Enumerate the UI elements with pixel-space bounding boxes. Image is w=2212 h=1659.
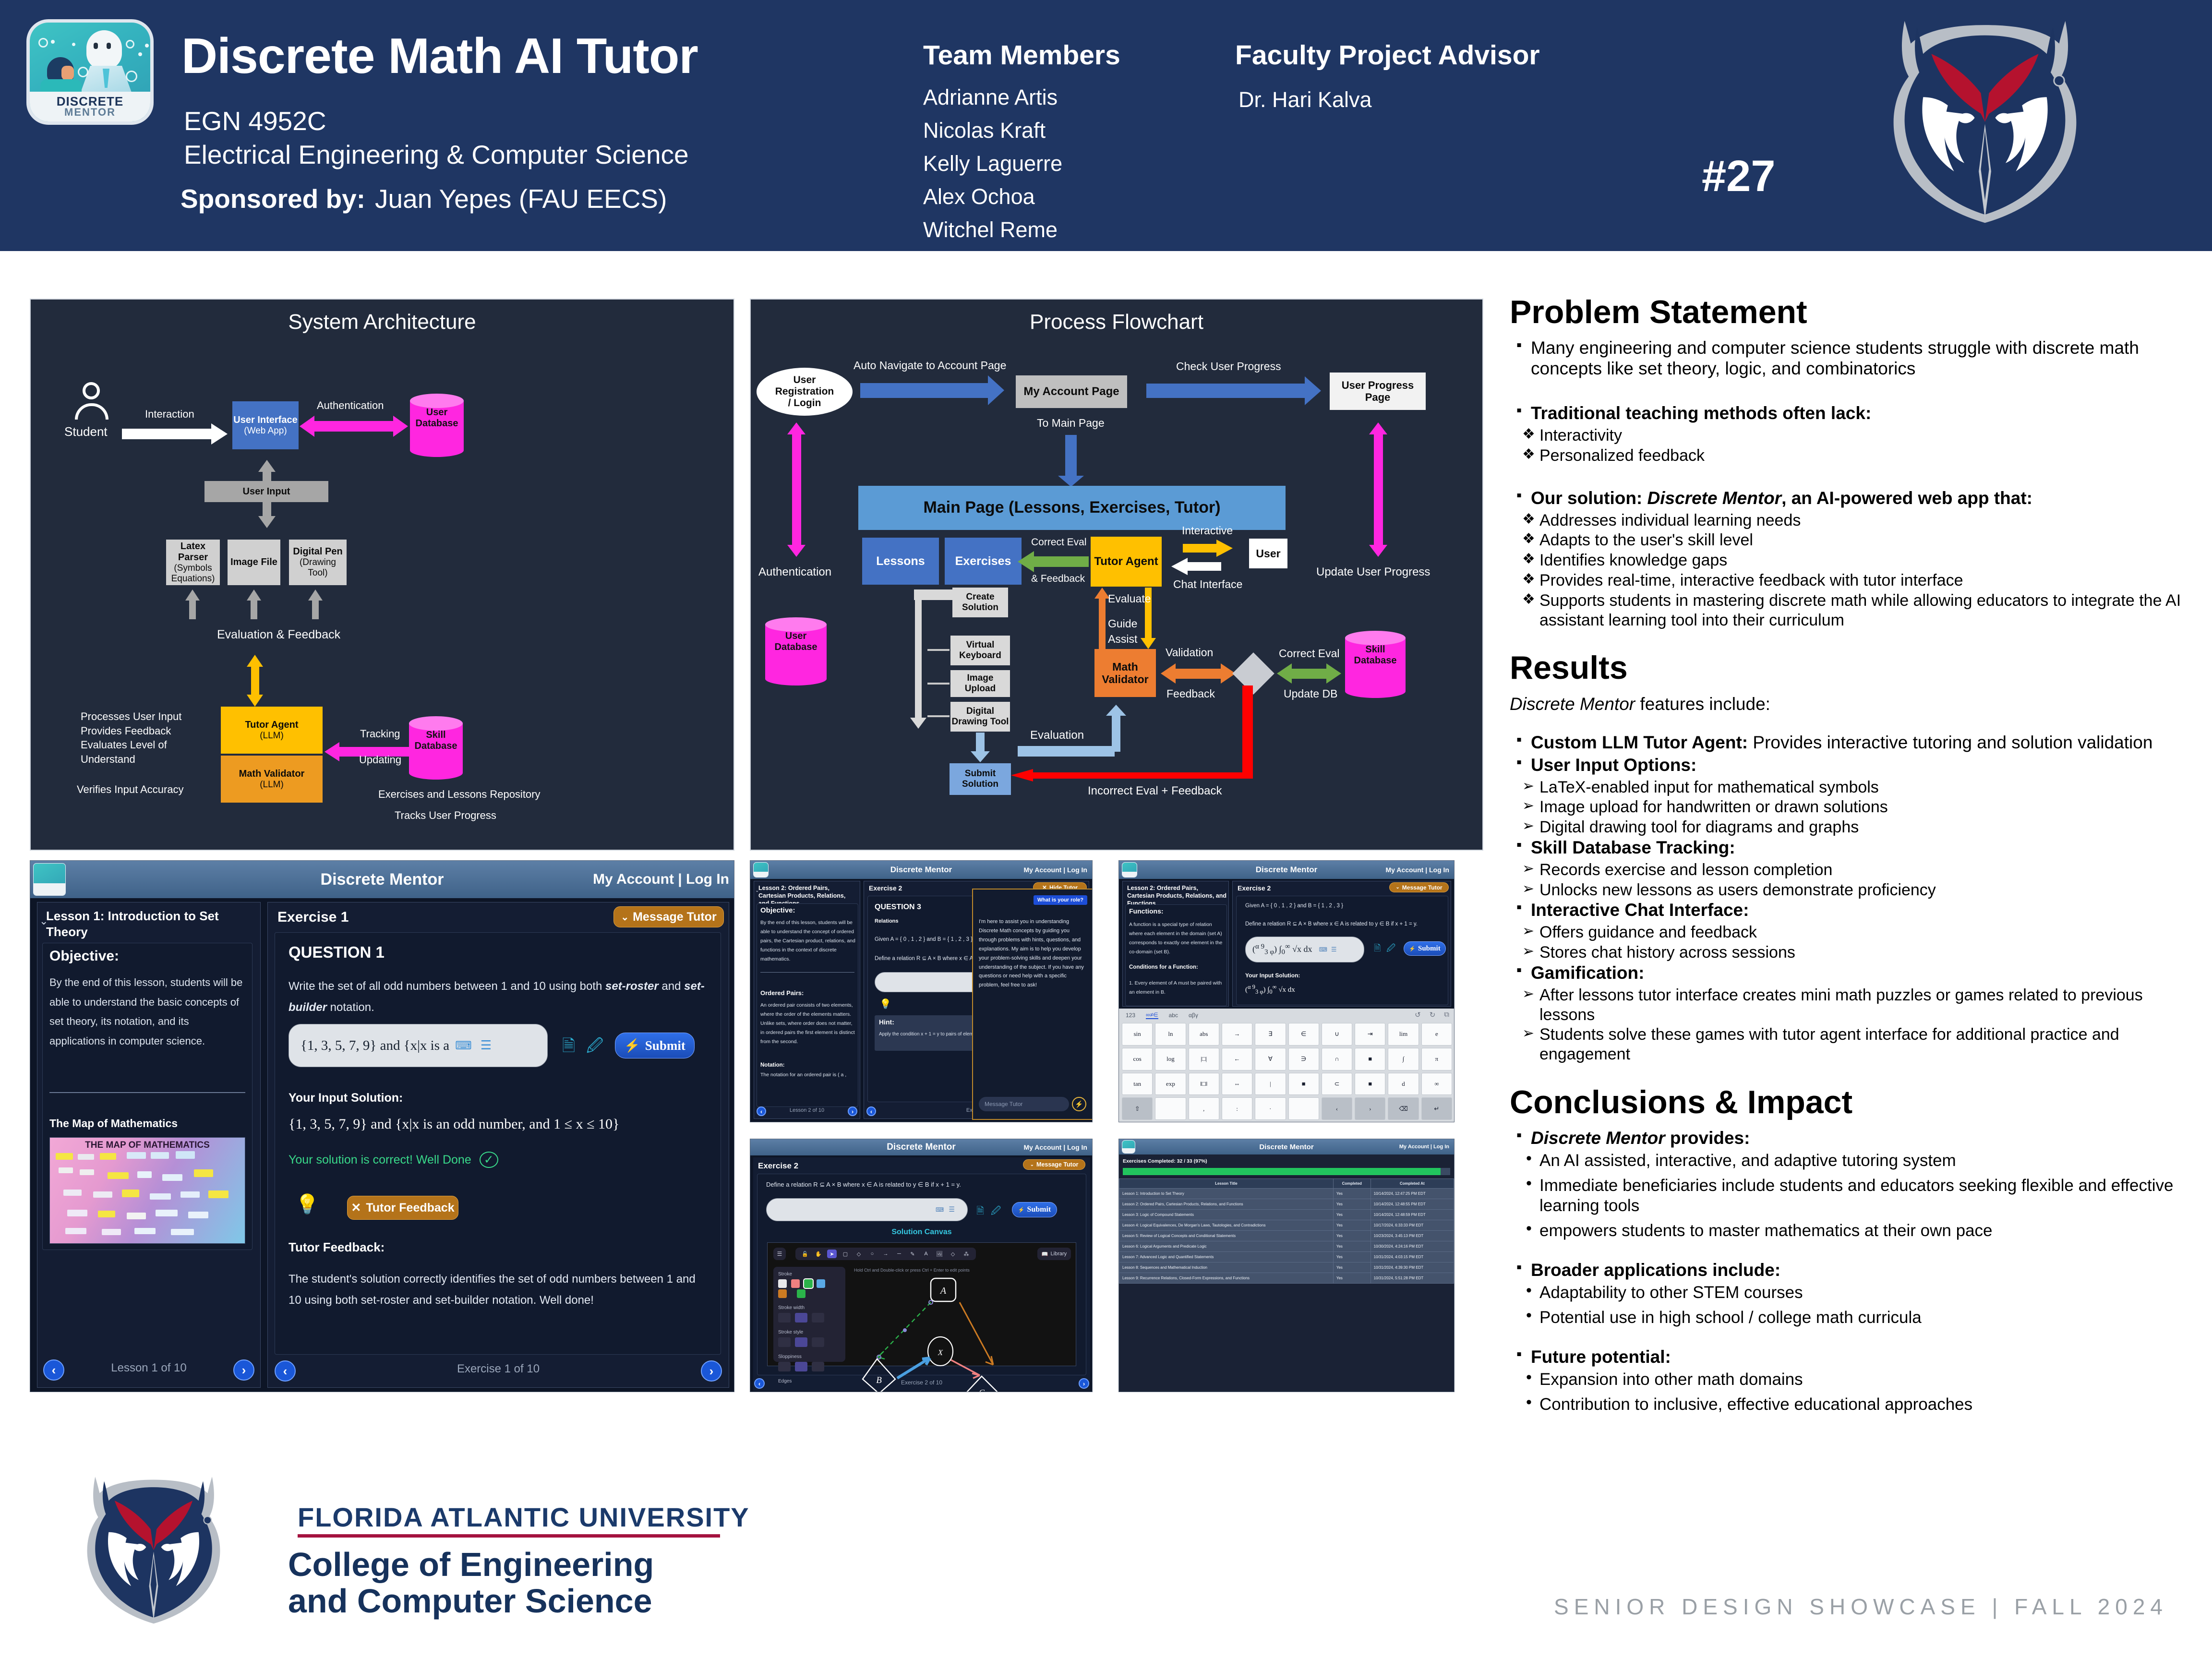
key-abs[interactable]: abs <box>1189 1023 1219 1046</box>
hint-text: Apply the condition x + 1 = y to pairs o… <box>879 1032 974 1037</box>
define-line: Define a relation R ⊆ A × B where x ∈ A … <box>766 1181 961 1189</box>
canvas-hint: Hold Ctrl and Double-click or press Ctrl… <box>854 1268 970 1273</box>
key-∀[interactable]: ∀ <box>1255 1048 1286 1070</box>
key-cos[interactable]: cos <box>1122 1048 1153 1070</box>
stroke-style-options[interactable] <box>778 1337 841 1348</box>
submit-button[interactable]: ⚡ Submit <box>1404 941 1446 956</box>
tab-123[interactable]: 123 <box>1126 1012 1135 1019</box>
group-product-name: Discrete Mentor <box>1531 1128 1665 1148</box>
app-screenshot-progress-table[interactable]: Discrete Mentor My Account | Log In Exer… <box>1118 1139 1455 1392</box>
style-solid[interactable] <box>778 1337 791 1347</box>
diamond-icon[interactable]: ◇ <box>854 1250 864 1258</box>
validation-label: Validation <box>1166 645 1213 660</box>
authentication-arrow-icon <box>787 422 805 557</box>
list-item: Records exercise and lesson completion <box>1520 860 2191 880</box>
key-,[interactable]: , <box>1189 1097 1219 1120</box>
message-tutor-button[interactable]: ⌄ Message Tutor <box>1023 1159 1085 1170</box>
submit-solution-label: SubmitSolution <box>962 769 998 790</box>
given-line: Given A = { 0 , 1 , 2 } and B = { 1 , 2 … <box>875 937 973 942</box>
key-π[interactable]: π <box>1421 1048 1452 1070</box>
table-row: Lesson 7: Advanced Logic and Quantified … <box>1119 1252 1454 1262</box>
draw-tool-icon[interactable]: 🖉 <box>586 1034 603 1062</box>
swatch-green-selected[interactable] <box>804 1279 813 1288</box>
app-topbar: Discrete Mentor My Account | Log In <box>1119 861 1454 879</box>
tutor-feedback-text: The student's solution correctly identif… <box>289 1269 711 1311</box>
key-⊂[interactable]: ⊂ <box>1322 1073 1352 1095</box>
table-cell: Yes <box>1333 1210 1370 1220</box>
sloppiness-2[interactable] <box>795 1362 807 1371</box>
lightbulb-icon[interactable]: 💡 <box>879 998 891 1010</box>
stroke-width-label: Stroke width <box>778 1305 841 1310</box>
right-content-column: Problem Statement Many engineering and c… <box>1510 295 2191 1419</box>
table-cell: Yes <box>1333 1252 1370 1262</box>
key-↵[interactable]: ↵ <box>1421 1097 1452 1120</box>
solution-suffix: , an AI-powered web app that: <box>1781 488 2032 508</box>
user-database-label: UserDatabase <box>765 631 827 653</box>
authentication-arrow-icon <box>300 416 408 437</box>
sloppiness-3[interactable] <box>812 1362 824 1371</box>
objective-heading: Objective: <box>760 906 795 914</box>
objective-text: By the end of this lesson, students will… <box>49 973 243 1051</box>
objective-card: Objective: By the end of this lesson, st… <box>42 943 252 1250</box>
stroke-width-options[interactable] <box>778 1313 841 1324</box>
key-|[interactable]: | <box>1255 1073 1286 1095</box>
list-item: Offers guidance and feedback <box>1520 923 2191 942</box>
showcase-label: SENIOR DESIGN SHOWCASE | FALL 2024 <box>1554 1594 2168 1620</box>
latex-parser-sub: (SymbolsEquations) <box>171 563 215 584</box>
image-icon[interactable]: 🖼 <box>935 1250 944 1258</box>
create-solution-node: CreateSolution <box>952 588 1008 617</box>
key-∪[interactable]: ∪ <box>1322 1023 1352 1046</box>
digital-pen-node: Digital Pen (Drawing Tool) <box>289 540 347 585</box>
canvas-drawing: A B X C <box>849 1274 1065 1392</box>
objective-heading: Objective: <box>49 948 119 964</box>
draw-tool-icon[interactable]: 🖉 <box>1386 942 1395 957</box>
math-validator-label: MathValidator <box>1102 661 1148 686</box>
to-main-page-label: To Main Page <box>1037 416 1105 431</box>
list-item: Provides real-time, interactive feedback… <box>1520 571 2191 590</box>
key-∞[interactable]: ∞ <box>1421 1073 1452 1095</box>
list-item: Nicolas Kraft <box>923 120 1062 141</box>
advisor-name: Dr. Hari Kalva <box>1238 87 1372 112</box>
submit-button[interactable]: ⚡ Submit <box>615 1033 695 1058</box>
chevron-down-icon: ⌄ <box>1030 1162 1034 1167</box>
user-database-label: UserDatabase <box>410 407 464 429</box>
team-members-list: Adrianne Artis Nicolas Kraft Kelly Lague… <box>923 86 1062 252</box>
key-⌫[interactable]: ⌫ <box>1388 1097 1419 1120</box>
keyboard-tabs[interactable]: 123 ∞≠∈ abc αβγ <box>1126 1011 1198 1019</box>
sponsor-row: Sponsored by:Juan Yepes (FAU EECS) <box>180 183 667 214</box>
math-input-value: {1, 3, 5, 7, 9} and {x|x is a <box>301 1038 449 1054</box>
ellipse-icon[interactable]: ○ <box>867 1250 877 1258</box>
notation-heading: Notation: <box>760 1062 784 1068</box>
keyboard-icon[interactable]: ⌨ <box>936 1206 944 1214</box>
evaluation-feedback-label: Evaluation & Feedback <box>217 627 340 643</box>
tutor-agent-title: Tutor Agent <box>245 720 298 731</box>
chat-bot-message: I'm here to assist you in understanding … <box>979 917 1088 990</box>
discrete-mentor-logo: DISCRETE MENTOR <box>26 19 154 125</box>
app-screenshot-lesson1[interactable]: Discrete Mentor My Account | Log In Less… <box>30 860 734 1392</box>
send-message-button[interactable]: ⚡ <box>1072 1097 1086 1111</box>
solution-prefix: Our solution: <box>1531 488 1647 508</box>
results-group-3-items: Offers guidance and feedback Stores chat… <box>1520 923 2191 962</box>
results-group-1: User Input Options: <box>1514 755 2191 776</box>
tab-abc[interactable]: abc <box>1169 1012 1178 1019</box>
registration-label: UserRegistration/ Login <box>775 374 834 409</box>
key-←[interactable]: ← <box>1222 1048 1252 1070</box>
list-item: Supports students in mastering discrete … <box>1520 591 2191 630</box>
text-icon[interactable]: A <box>921 1250 931 1258</box>
account-links[interactable]: My Account | Log In <box>1023 866 1087 874</box>
submit-label: Submit <box>1418 945 1441 953</box>
swatch-orange[interactable] <box>778 1289 787 1298</box>
menu-icon[interactable]: ☰ <box>1331 946 1337 953</box>
student-label: Student <box>64 423 108 440</box>
swatch-current[interactable] <box>797 1289 805 1298</box>
file-upload-icon[interactable]: 🗎 <box>976 1204 984 1220</box>
solution-group: Our solution: Discrete Mentor, an AI-pow… <box>1514 488 2191 509</box>
sloppiness-options[interactable] <box>778 1362 841 1373</box>
key-:[interactable]: : <box>1222 1097 1252 1120</box>
stroke-label: Stroke <box>778 1272 841 1277</box>
canvas-menu-button[interactable]: ☰ <box>773 1248 786 1260</box>
chat-panel: What is your role? I'm here to assist yo… <box>972 889 1093 1120</box>
canvas-card: Define a relation R ⊆ A × B where x ∈ A … <box>757 1174 1086 1375</box>
style-dashed[interactable] <box>795 1337 807 1347</box>
college-line-1: College of Engineering <box>288 1546 654 1583</box>
list-item: Adapts to the user's skill level <box>1520 530 2191 550</box>
conclusions-group-1: Broader applications include: <box>1514 1260 2191 1281</box>
question-italic-1: set-roster <box>605 980 659 993</box>
group-title: Future potential: <box>1514 1347 2191 1368</box>
key-■[interactable]: ■ <box>1355 1048 1385 1070</box>
solution-items: Addresses individual learning needs Adap… <box>1520 511 2191 630</box>
key-tan[interactable]: tan <box>1122 1073 1153 1095</box>
message-tutor-button[interactable]: ⌄ Message Tutor <box>613 906 724 927</box>
key-⇧[interactable]: ⇧ <box>1122 1097 1153 1120</box>
conclusions-group-2-items: Expansion into other math domains Contri… <box>1520 1370 2191 1415</box>
account-links[interactable]: My Account | Log In <box>1399 1144 1449 1150</box>
results-lead: Discrete Mentor features include: <box>1510 694 2191 714</box>
next-exercise-button[interactable]: › <box>701 1360 722 1382</box>
draw-tool-icon[interactable]: 🖉 <box>991 1204 1001 1220</box>
key-ln[interactable]: ln <box>1155 1023 1186 1046</box>
image-upload-label: Image Upload <box>950 673 1010 694</box>
math-input-field[interactable]: {1, 3, 5, 7, 9} and {x|x is a ⌨ ☰ <box>289 1024 548 1067</box>
annotation-line: Processes User Input <box>81 710 181 722</box>
lightning-icon: ⚡ <box>1409 946 1416 952</box>
next-lesson-button[interactable]: › <box>233 1359 254 1381</box>
skill-database-label: SkillDatabase <box>1345 644 1406 666</box>
key-⇔[interactable]: ⇔ <box>1222 1073 1252 1095</box>
circuit-dot-icon <box>72 43 75 46</box>
conclusions-group-0: Discrete Mentor provides: <box>1514 1128 2191 1149</box>
chevron-down-icon[interactable]: ⌄ <box>755 888 759 893</box>
pen-up-arrow-icon <box>308 589 323 619</box>
account-links[interactable]: My Account | Log In <box>1023 1143 1087 1151</box>
library-button[interactable]: 📖Library <box>1037 1248 1071 1260</box>
account-links[interactable]: My Account | Log In <box>593 871 729 888</box>
robot-eye-right-icon <box>107 43 111 49</box>
keyboard-icon[interactable]: ⌨ <box>455 1039 472 1053</box>
results-group-2: Skill Database Tracking: <box>1514 838 2191 858</box>
group-title: Custom LLM Tutor Agent: <box>1531 733 1748 752</box>
submit-label: Submit <box>645 1038 685 1053</box>
message-tutor-button[interactable]: ⌄ Message Tutor <box>1389 882 1449 892</box>
divider <box>298 1534 720 1538</box>
style-dotted[interactable] <box>812 1337 824 1347</box>
circuit-circle-icon <box>78 67 88 77</box>
exercise-title: Exercise 2 <box>1238 884 1271 892</box>
key-›[interactable]: › <box>1355 1097 1385 1120</box>
conclusions-heading: Conclusions & Impact <box>1510 1085 2191 1119</box>
chevron-down-icon[interactable]: ⌄ <box>39 915 48 927</box>
key-blank[interactable] <box>1288 1097 1319 1120</box>
list-item: Adrianne Artis <box>923 86 1062 108</box>
key-→[interactable]: → <box>1222 1023 1252 1046</box>
list-item: empowers students to master mathematics … <box>1520 1221 2191 1241</box>
interactive-arrow-icon <box>1183 540 1233 557</box>
canvas-properties-panel[interactable]: Stroke Stroke width <box>773 1267 845 1362</box>
authentication-edge-label: Authentication <box>317 398 384 413</box>
table-cell: 10/17/2024, 6:33:33 PM EDT <box>1370 1220 1454 1231</box>
pencil-icon[interactable]: ✎ <box>908 1250 917 1258</box>
update-progress-label: Update User Progress <box>1316 565 1430 580</box>
exercise-pager: Exercise 1 of 10 <box>268 1362 729 1376</box>
question-title: QUESTION 1 <box>289 943 385 962</box>
tutor-feedback-button[interactable]: ✕ Tutor Feedback <box>347 1196 458 1220</box>
stroke-swatches[interactable] <box>778 1279 841 1299</box>
key-∩[interactable]: ∩ <box>1322 1048 1352 1070</box>
user-database-node: UserDatabase <box>410 394 464 450</box>
key-‹[interactable]: ‹ <box>1322 1097 1352 1120</box>
digital-drawing-tool-node: DigitalDrawing Tool <box>950 702 1010 732</box>
table-row: Lesson 9: Recurrence Relations, Closed-F… <box>1119 1273 1454 1284</box>
lock-icon[interactable]: 🔓 <box>800 1250 810 1258</box>
width-medium[interactable] <box>795 1313 807 1322</box>
department-name: Electrical Engineering & Computer Scienc… <box>184 139 689 170</box>
canvas-tools[interactable]: 🔓 ✋ ➤ ▢ ◇ ○ → ─ ✎ A 🖼 ◇ ⁂ <box>795 1248 976 1260</box>
results-group-4: Gamification: <box>1514 963 2191 984</box>
correct-eval-label: Correct Eval <box>1279 646 1340 661</box>
user-interface-sub: (Web App) <box>244 426 287 436</box>
hand-icon[interactable]: ✋ <box>814 1250 823 1258</box>
lesson-pane: Lesson 2: Ordered Pairs, Cartesian Produ… <box>754 881 860 1119</box>
evaluate-label: Evaluate <box>1108 591 1151 606</box>
rectangle-icon[interactable]: ▢ <box>841 1250 850 1258</box>
width-thin[interactable] <box>778 1313 791 1322</box>
swatch-blue[interactable] <box>817 1279 825 1288</box>
key-|□|[interactable]: |□| <box>1189 1048 1219 1070</box>
circuit-dot-icon <box>138 52 142 56</box>
lessons-node: Lessons <box>862 538 939 585</box>
key-·[interactable]: · <box>1255 1097 1286 1120</box>
list-item: An AI assisted, interactive, and adaptiv… <box>1520 1151 2191 1171</box>
virtual-keyboard[interactable]: 123 ∞≠∈ abc αβγ ↺↻⧉ sinlnabs→∃∈∪⇥limecos… <box>1119 1009 1455 1122</box>
table-row: Lesson 6: Logical Arguments and Predicat… <box>1119 1241 1454 1252</box>
updating-edge-label: Updating <box>359 753 401 767</box>
system-architecture-title: System Architecture <box>31 310 733 334</box>
key-lim[interactable]: lim <box>1388 1023 1419 1046</box>
table-cell: 10/14/2024, 12:48:59 PM EDT <box>1370 1210 1454 1220</box>
svg-text:X: X <box>938 1348 943 1357</box>
list-item: Addresses individual learning needs <box>1520 511 2191 530</box>
message-tutor-label: Message Tutor <box>1036 1161 1078 1168</box>
key-∫[interactable]: ∫ <box>1388 1048 1419 1070</box>
math-validator-node: MathValidator <box>1094 649 1156 697</box>
list-item: Potential use in high school / college m… <box>1520 1308 2191 1328</box>
sloppiness-1[interactable] <box>778 1362 791 1371</box>
table-cell: Lesson 5: Review of Logical Concepts and… <box>1119 1231 1334 1241</box>
table-cell: Yes <box>1333 1189 1370 1199</box>
progress-table: Lesson TitleCompletedCompleted AtLesson … <box>1119 1178 1454 1284</box>
library-label: Library <box>1051 1251 1067 1257</box>
conclusions-group-0-items: An AI assisted, interactive, and adaptiv… <box>1520 1151 2191 1241</box>
keyboard-grid[interactable]: sinlnabs→∃∈∪⇥limecoslog|□|←∀∋∩■∫πtanexp‖… <box>1122 1023 1452 1120</box>
list-item: Kelly Laguerre <box>923 153 1062 174</box>
logo-text-mentor: MENTOR <box>64 108 116 118</box>
svg-text:C: C <box>979 1388 985 1392</box>
table-cell: Lesson 9: Recurrence Relations, Closed-F… <box>1119 1273 1334 1284</box>
copy-icon[interactable]: ⧉ <box>1444 1010 1449 1019</box>
correct-eval-arrow-icon <box>1018 551 1089 572</box>
arrow-icon[interactable]: → <box>881 1250 890 1258</box>
list-item: Expansion into other math domains <box>1520 1370 2191 1390</box>
user-node: User <box>1249 539 1287 568</box>
menu-icon[interactable]: ☰ <box>949 1206 955 1214</box>
swatch-red[interactable] <box>791 1279 800 1288</box>
key-■[interactable]: ■ <box>1288 1073 1319 1095</box>
next-lesson-button[interactable]: › <box>848 1106 857 1116</box>
swatch-white[interactable] <box>778 1279 787 1288</box>
account-links[interactable]: My Account | Log In <box>1385 866 1449 874</box>
key-∃[interactable]: ∃ <box>1255 1023 1286 1046</box>
interactive-label: Interactive <box>1182 523 1233 538</box>
lightning-icon: ⚡ <box>1018 1207 1025 1213</box>
keyboard-actions[interactable]: ↺↻⧉ <box>1415 1010 1449 1019</box>
interaction-arrow-icon <box>122 423 228 445</box>
group-title: Skill Database Tracking: <box>1514 838 2191 858</box>
list-item: Personalized feedback <box>1520 446 2191 466</box>
skill-database-node: SkillDatabase <box>409 716 463 773</box>
results-product-name: Discrete Mentor <box>1510 694 1635 714</box>
condition-item: 1. Every element of A must be paired wit… <box>1129 979 1225 997</box>
sponsor-label: Sponsored by: <box>180 184 365 214</box>
logo-artwork <box>30 23 150 92</box>
key-d[interactable]: d <box>1388 1073 1419 1095</box>
shapes-icon[interactable]: ⁂ <box>962 1250 971 1258</box>
table-cell: Yes <box>1333 1220 1370 1231</box>
chevron-down-icon: ⌄ <box>1395 885 1399 890</box>
results-group-0: Custom LLM Tutor Agent: Provides interac… <box>1514 733 2191 753</box>
redo-icon[interactable]: ↻ <box>1430 1010 1436 1019</box>
svg-text:A: A <box>939 1286 947 1296</box>
exercise-title: Exercise 2 <box>758 1161 798 1171</box>
relations-label: Relations <box>875 918 899 924</box>
chat-user-message: What is your role? <box>1034 895 1087 905</box>
app-topbar: Discrete Mentor My Account | Log In <box>1119 1139 1454 1154</box>
canvas-heading: Solution Canvas <box>757 1228 1086 1237</box>
key-log[interactable]: log <box>1155 1048 1186 1070</box>
key-e[interactable]: e <box>1421 1023 1452 1046</box>
line-icon[interactable]: ─ <box>894 1250 904 1258</box>
digital-drawing-tool-label: DigitalDrawing Tool <box>952 706 1009 727</box>
app-screenshot-virtual-keyboard[interactable]: Discrete Mentor My Account | Log In Less… <box>1118 860 1455 1122</box>
next-exercise-button[interactable]: › <box>1079 1378 1089 1389</box>
table-cell: Yes <box>1333 1273 1370 1284</box>
fau-owl-logo-footer-icon <box>77 1474 230 1627</box>
key-⇥[interactable]: ⇥ <box>1355 1023 1385 1046</box>
submit-button[interactable]: ⚡ Submit <box>1012 1202 1057 1217</box>
keyboard-icon[interactable]: ⌨ <box>1319 946 1327 953</box>
tab-greek[interactable]: αβγ <box>1189 1012 1198 1019</box>
tracking-edge-label: Tracking <box>360 727 400 741</box>
map-heading: The Map of Mathematics <box>49 1117 178 1130</box>
app-screenshot-solution-canvas[interactable]: Discrete Mentor My Account | Log In Exer… <box>750 1139 1093 1392</box>
tab-symbols[interactable]: ∞≠∈ <box>1146 1011 1158 1019</box>
math-input-field[interactable]: (α 93 φ) ∫0∞ √x dx ⌨ ☰ <box>1245 937 1364 962</box>
list-item: Many engineering and computer science st… <box>1514 338 2191 379</box>
tutor-agent-sub: (LLM) <box>260 731 284 741</box>
image-upload-node: Image Upload <box>950 670 1010 697</box>
table-cell: Lesson 6: Logical Arguments and Predicat… <box>1119 1241 1334 1252</box>
account-page-node: My Account Page <box>1016 375 1127 408</box>
key-∋[interactable]: ∋ <box>1288 1048 1319 1070</box>
decision-diamond-icon <box>1232 652 1274 695</box>
math-input-field[interactable]: ⌨ ☰ <box>766 1198 968 1221</box>
key-blank[interactable] <box>1155 1097 1186 1120</box>
feedback-label: & Feedback <box>1031 572 1085 586</box>
submit-label: Submit <box>1027 1205 1051 1214</box>
lightbulb-icon[interactable]: 💡 <box>295 1193 319 1215</box>
key-■[interactable]: ■ <box>1355 1073 1385 1095</box>
file-upload-icon[interactable]: 🗎 <box>562 1034 575 1062</box>
image-file-label: Image File <box>230 557 277 568</box>
width-thick[interactable] <box>812 1313 824 1322</box>
student-head-icon <box>83 382 100 399</box>
results-group-3: Interactive Chat Interface: <box>1514 900 2191 921</box>
update-db-label: Update DB <box>1284 686 1338 701</box>
chat-input[interactable]: Message Tutor <box>979 1097 1069 1111</box>
validation-feedback-arrow-icon <box>1161 663 1236 684</box>
select-icon[interactable]: ➤ <box>827 1250 837 1258</box>
table-row: Lesson 5: Review of Logical Concepts and… <box>1119 1231 1454 1241</box>
key-‖□‖[interactable]: ‖□‖ <box>1189 1073 1219 1095</box>
traditional-methods-group: Traditional teaching methods often lack: <box>1514 403 2191 424</box>
menu-icon[interactable]: ☰ <box>481 1038 492 1053</box>
tutor-feedback-heading: Tutor Feedback: <box>289 1240 385 1255</box>
tutor-agent-node: Tutor Agent <box>1091 537 1162 587</box>
incorrect-eval-arrow-icon <box>1011 769 1253 781</box>
drawing-canvas[interactable]: ☰ 🔓 ✋ ➤ ▢ ◇ ○ → ─ ✎ A 🖼 ◇ ⁂ 📖L <box>767 1242 1076 1366</box>
file-upload-icon[interactable]: 🗎 <box>1374 942 1381 957</box>
key-∈[interactable]: ∈ <box>1288 1023 1319 1046</box>
table-row: Lesson 1: Introduction to Set TheoryYes1… <box>1119 1189 1454 1199</box>
update-db-arrow-icon <box>1277 663 1341 684</box>
user-label: User <box>1256 547 1280 560</box>
table-row: Lesson 4: Logical Equivalences, De Morga… <box>1119 1220 1454 1231</box>
key-exp[interactable]: exp <box>1155 1073 1186 1095</box>
user-input-node: User Input <box>204 481 328 502</box>
undo-icon[interactable]: ↺ <box>1415 1010 1421 1019</box>
functions-card: Functions: A function is a special type … <box>1125 904 1227 1006</box>
eraser-icon[interactable]: ◇ <box>948 1250 958 1258</box>
key-sin[interactable]: sin <box>1122 1023 1153 1046</box>
table-cell: Lesson 3: Logic of Compound Statements <box>1119 1210 1334 1220</box>
conclusions-group-1-items: Adaptability to other STEM courses Poten… <box>1520 1283 2191 1328</box>
create-flow-arrow-icon <box>910 589 926 729</box>
app-screenshot-chat-tutor[interactable]: Discrete Mentor My Account | Log In Less… <box>750 860 1093 1122</box>
